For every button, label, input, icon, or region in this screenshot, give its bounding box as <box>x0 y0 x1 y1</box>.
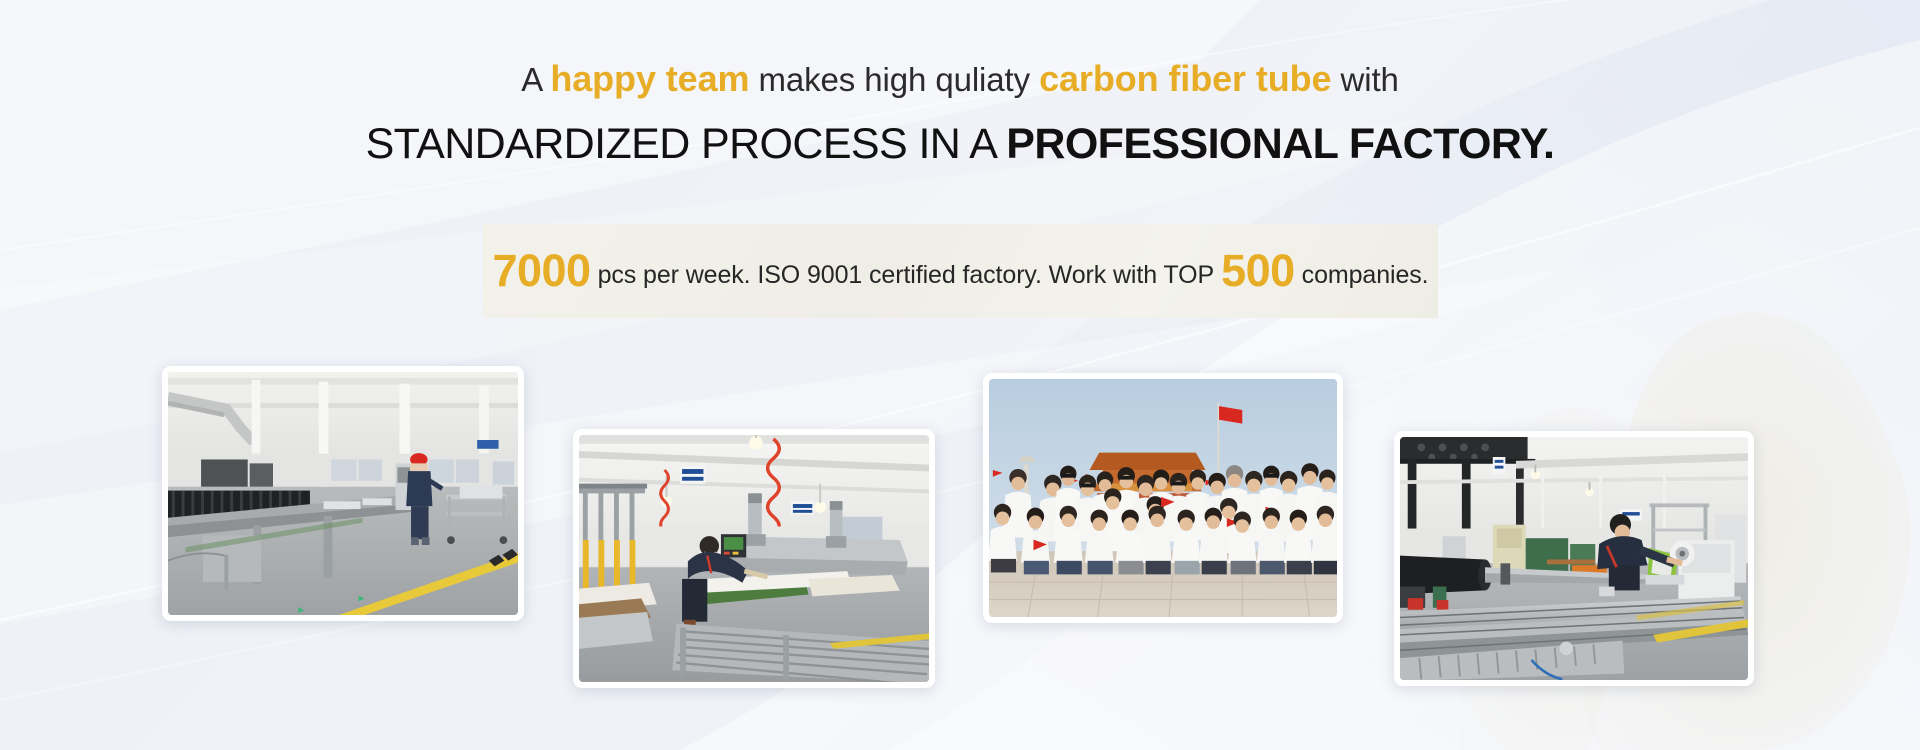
promo-banner: A happy team makes high quliaty carbon f… <box>0 0 1920 750</box>
photo-image-filament-winding-machine <box>1400 437 1748 680</box>
photo-card-factory-production-line[interactable] <box>162 366 524 621</box>
photo-card-filament-winding-machine[interactable] <box>1394 431 1754 686</box>
photo-card-cnc-machining-station[interactable] <box>573 429 935 688</box>
photo-image-team-group-photo <box>989 379 1337 617</box>
photo-strip <box>0 0 1920 750</box>
photo-image-factory-production-line <box>168 372 518 615</box>
photo-image-cnc-machining-station <box>579 435 929 682</box>
photo-card-team-group-photo[interactable] <box>983 373 1343 623</box>
